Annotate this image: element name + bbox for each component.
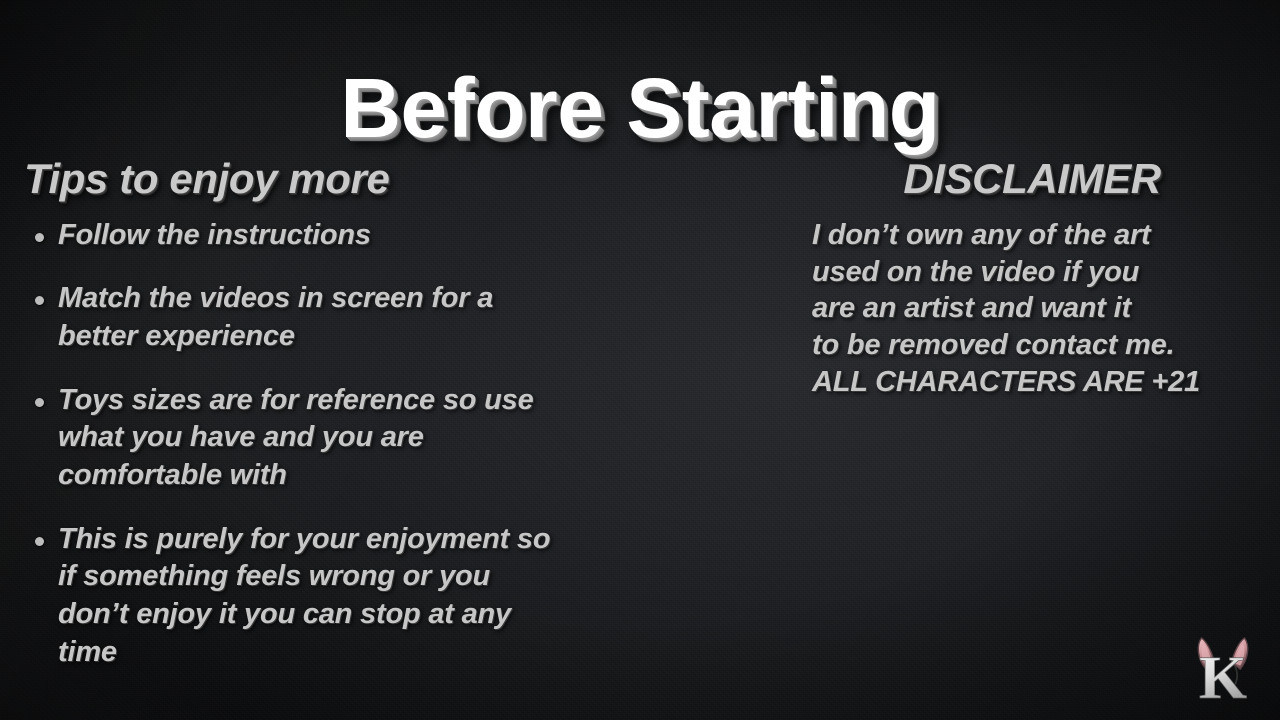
disclaimer-line: to be removed contact me. xyxy=(812,327,1252,364)
letter-k-glyph: K xyxy=(1199,644,1247,712)
logo-letter: K xyxy=(1199,644,1247,712)
disclaimer-heading: DISCLAIMER xyxy=(812,157,1252,201)
disclaimer-body: I don’t own any of the art used on the v… xyxy=(812,217,1252,401)
slide-canvas: Before Starting Tips to enjoy more Follo… xyxy=(0,0,1280,720)
list-item: Match the videos in screen for a better … xyxy=(24,280,564,355)
disclaimer-line: used on the video if you xyxy=(812,254,1252,291)
disclaimer-column: DISCLAIMER I don’t own any of the art us… xyxy=(812,157,1252,401)
list-item: Toys sizes are for reference so use what… xyxy=(24,382,564,495)
tips-column: Tips to enjoy more Follow the instructio… xyxy=(24,157,564,698)
tips-bullet-text: This is purely for your enjoyment so if … xyxy=(58,523,550,668)
tips-bullet-text: Match the videos in screen for a better … xyxy=(58,282,493,352)
tips-bullet-text: Toys sizes are for reference so use what… xyxy=(58,384,534,491)
list-item: Follow the instructions xyxy=(24,217,564,255)
k-monogram-logo-icon: K xyxy=(1180,626,1266,712)
disclaimer-line: ALL CHARACTERS ARE +21 xyxy=(812,364,1252,401)
tips-heading: Tips to enjoy more xyxy=(24,157,564,201)
disclaimer-line: are an artist and want it xyxy=(812,290,1252,327)
slide-title: Before Starting xyxy=(0,60,1280,157)
tips-bullet-text: Follow the instructions xyxy=(58,219,371,251)
tips-bullet-list: Follow the instructions Match the videos… xyxy=(24,217,564,672)
disclaimer-line: I don’t own any of the art xyxy=(812,217,1252,254)
list-item: This is purely for your enjoyment so if … xyxy=(24,521,564,672)
